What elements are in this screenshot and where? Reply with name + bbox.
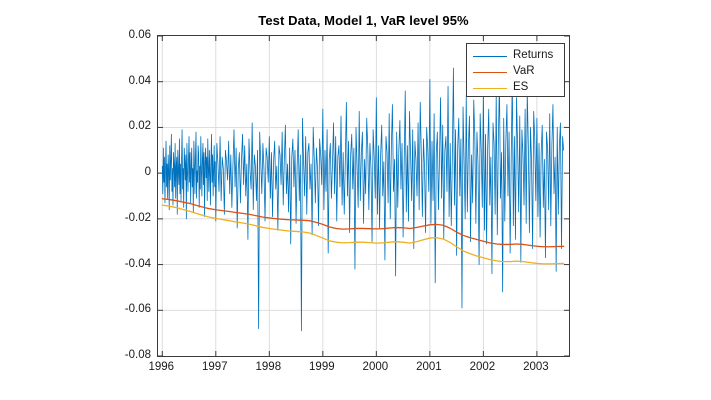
- legend-label-returns: Returns: [513, 50, 553, 62]
- y-tick-label: -0.02: [105, 212, 151, 224]
- legend-item-returns[interactable]: Returns: [467, 48, 564, 64]
- y-tick-label: -0.04: [105, 258, 151, 270]
- y-tick-label: 0.04: [105, 75, 151, 87]
- x-tick-label: 2002: [452, 361, 512, 373]
- legend-label-var: VaR: [513, 66, 535, 78]
- y-tick-label: -0.06: [105, 303, 151, 315]
- legend-swatch-var: [473, 72, 507, 73]
- x-tick-label: 2001: [399, 361, 459, 373]
- series-returns: [162, 68, 563, 331]
- x-tick-label: 1997: [185, 361, 245, 373]
- legend-item-var[interactable]: VaR: [467, 64, 564, 80]
- figure-canvas: Test Data, Model 1, VaR level 95% 0.060.…: [0, 0, 711, 400]
- y-tick-label: 0.06: [105, 29, 151, 41]
- y-tick-label: -0.08: [105, 349, 151, 361]
- x-tick-label: 1998: [238, 361, 298, 373]
- x-tick-label: 1999: [292, 361, 352, 373]
- page-title: Test Data, Model 1, VaR level 95%: [157, 13, 570, 28]
- y-tick-label: 0.02: [105, 120, 151, 132]
- x-tick-label: 2003: [506, 361, 566, 373]
- legend-label-es: ES: [513, 82, 528, 94]
- legend-swatch-returns: [473, 56, 507, 57]
- y-tick-label: 0: [105, 166, 151, 178]
- legend-swatch-es: [473, 88, 507, 89]
- x-tick-label: 2000: [345, 361, 405, 373]
- x-tick-label: 1996: [131, 361, 191, 373]
- chart-legend[interactable]: Returns VaR ES: [466, 43, 565, 97]
- legend-item-es[interactable]: ES: [467, 80, 564, 96]
